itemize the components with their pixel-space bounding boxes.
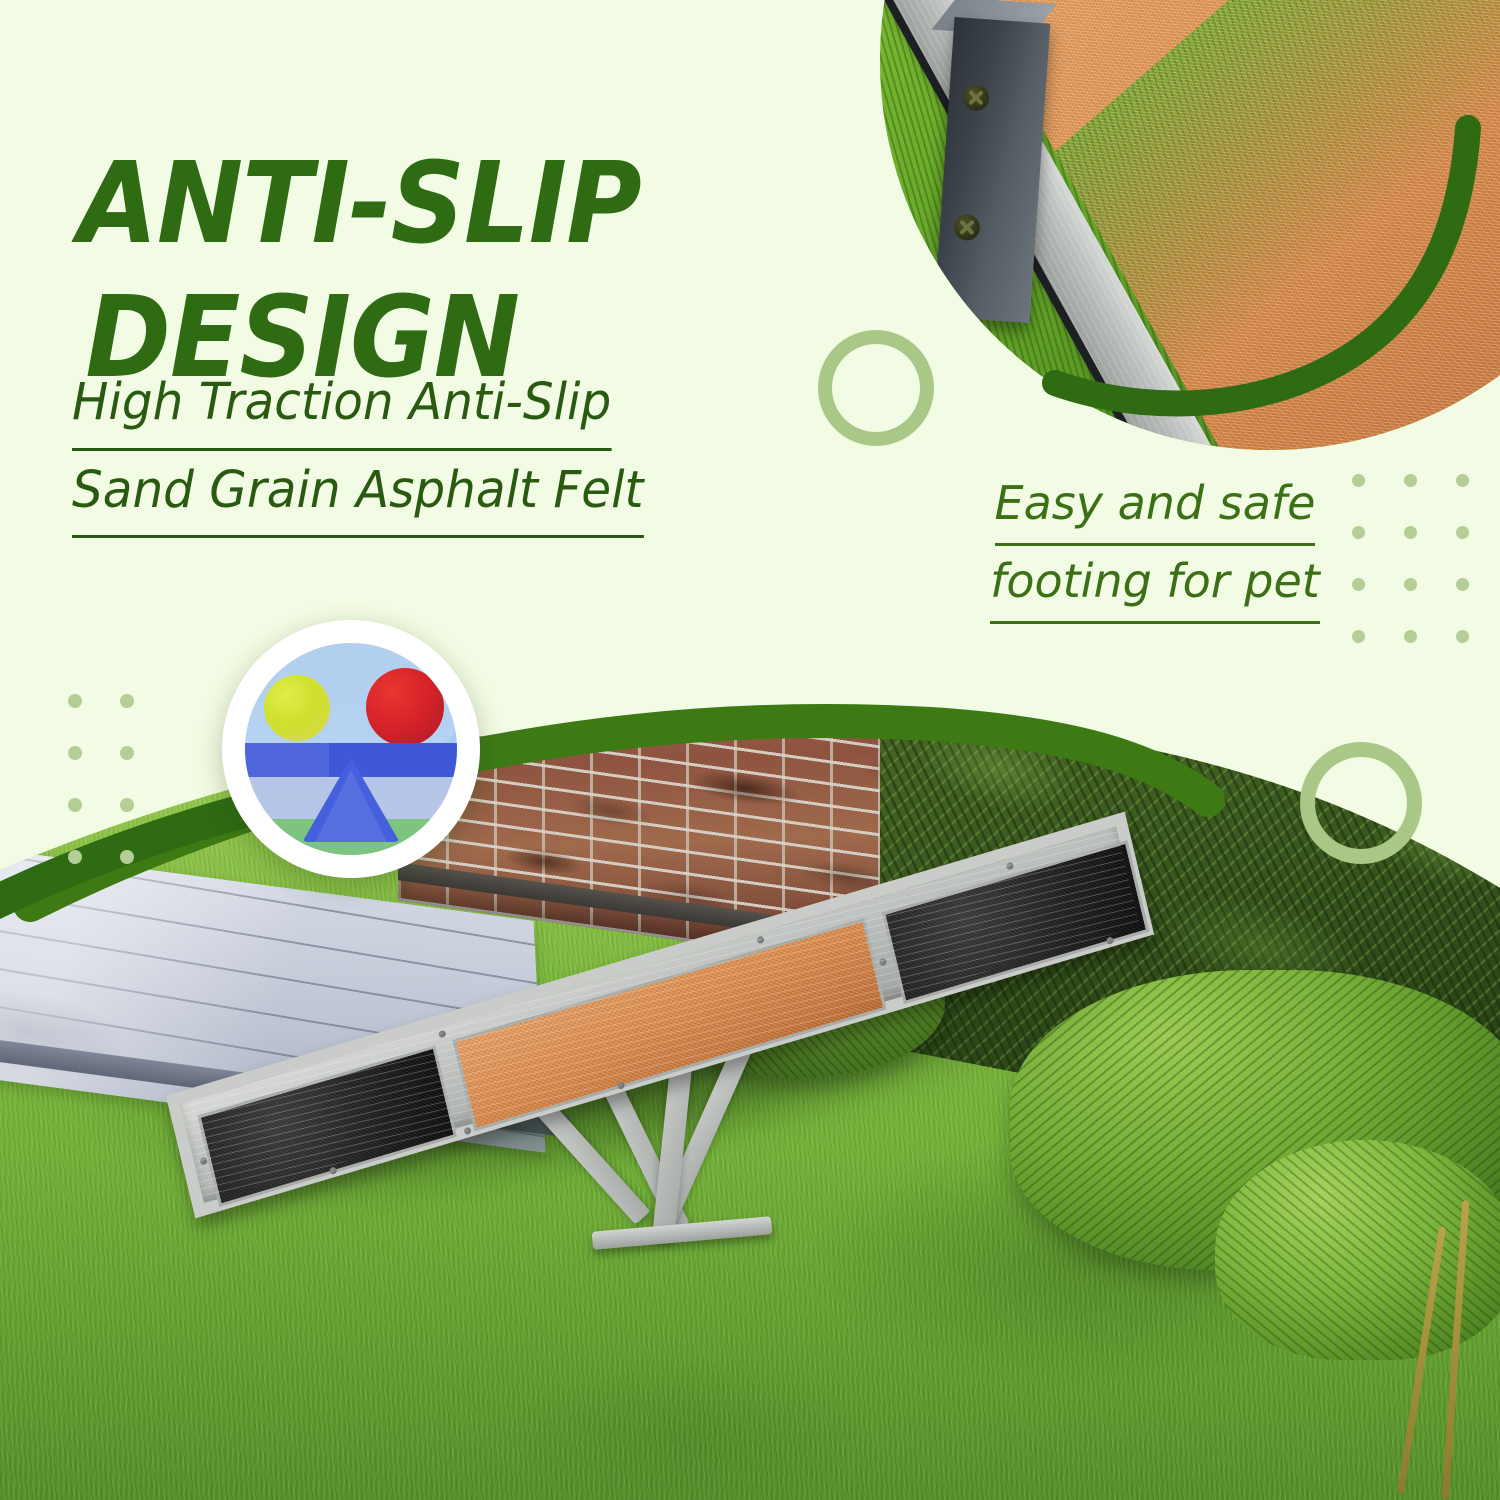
screw bbox=[463, 1127, 471, 1136]
ring-right-mid bbox=[1300, 742, 1422, 864]
seesaw-balance-badge bbox=[222, 620, 480, 878]
badge-ball-yellow bbox=[264, 675, 330, 741]
right-caption-line-2: footing for pet bbox=[990, 546, 1320, 624]
right-caption-line-1: Easy and safe bbox=[995, 468, 1316, 546]
screw-icon bbox=[962, 84, 990, 112]
screw bbox=[617, 1081, 625, 1090]
dot-grid-right bbox=[1352, 474, 1469, 643]
screw bbox=[879, 958, 887, 967]
screw bbox=[1106, 936, 1114, 945]
dot-grid-left bbox=[68, 694, 134, 864]
seesaw-balance-icon bbox=[245, 643, 457, 855]
screw bbox=[438, 1030, 446, 1039]
promo-banner: ANTI-SLIP DESIGN High Traction Anti-Slip… bbox=[0, 0, 1500, 1500]
screw-icon bbox=[953, 214, 981, 242]
subheading: High Traction Anti-Slip Sand Grain Aspha… bbox=[72, 363, 718, 538]
screw bbox=[199, 1157, 207, 1166]
ring-top-left-of-inset bbox=[818, 330, 934, 446]
headline-line-1: ANTI-SLIP bbox=[78, 139, 641, 269]
subheading-line-1: High Traction Anti-Slip bbox=[72, 363, 611, 451]
right-caption: Easy and safe footing for pet bbox=[955, 468, 1355, 624]
subheading-line-2: Sand Grain Asphalt Felt bbox=[72, 451, 644, 539]
screw bbox=[329, 1166, 337, 1175]
sand-grain-surface-closeup bbox=[880, 0, 1500, 450]
screw bbox=[1006, 862, 1014, 871]
screw bbox=[756, 935, 764, 944]
